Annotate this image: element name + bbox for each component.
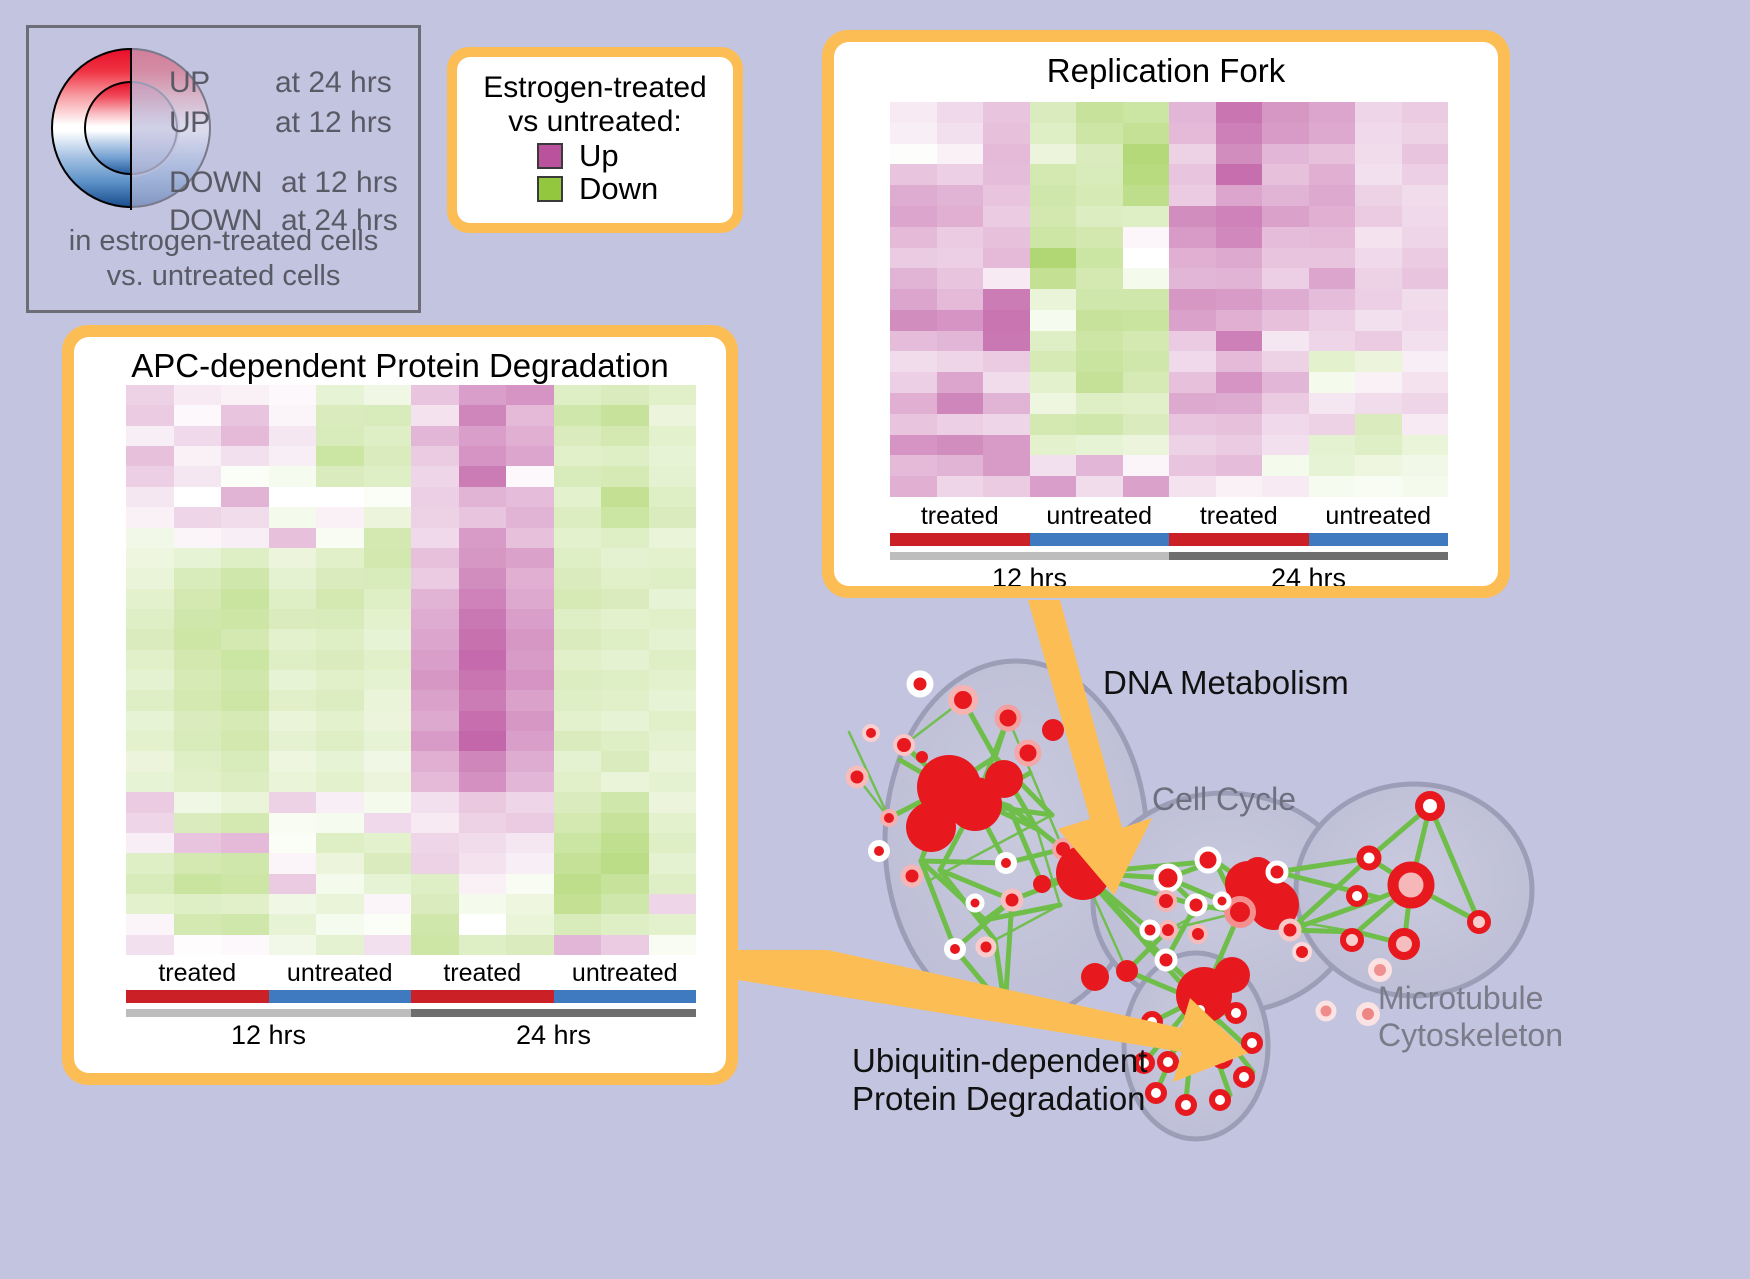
heatmap-cell xyxy=(269,833,317,853)
heatmap-cell xyxy=(1030,248,1077,269)
heatmap-cell xyxy=(459,894,507,914)
network-node xyxy=(1176,967,1232,1023)
heatmap-cell xyxy=(1355,310,1402,331)
heatmap-cell xyxy=(316,426,364,446)
heatmap-cell xyxy=(554,426,602,446)
heatmap-cell xyxy=(890,310,937,331)
heatmap-cell xyxy=(1355,144,1402,165)
heatmap-cell xyxy=(221,385,269,405)
network-node xyxy=(848,768,866,786)
heatmap-cell xyxy=(269,385,317,405)
heatmap-cell xyxy=(554,568,602,588)
heatmap-cell xyxy=(221,426,269,446)
heatmap-cell xyxy=(890,289,937,310)
heatmap-cell xyxy=(554,874,602,894)
heatmap-cell xyxy=(126,751,174,771)
heatmap-cell xyxy=(269,751,317,771)
heatmap-cell xyxy=(174,507,222,527)
heatmap-cell xyxy=(459,914,507,934)
heatmap-cell xyxy=(890,164,937,185)
heatmap-cell xyxy=(506,507,554,527)
heatmap-cell xyxy=(1309,372,1356,393)
network-node xyxy=(1187,896,1205,914)
heatmap-cell xyxy=(364,792,412,812)
heatmap-cell xyxy=(890,351,937,372)
heatmap-cell xyxy=(1309,206,1356,227)
heatmap-cell xyxy=(506,853,554,873)
heatmap-cell xyxy=(459,670,507,690)
heatmap-cell xyxy=(601,772,649,792)
heatmap-cell xyxy=(1309,310,1356,331)
heatmap-cell xyxy=(411,405,459,425)
network-node xyxy=(1242,857,1274,889)
heatmap-cell xyxy=(1076,435,1123,456)
heatmap-cell xyxy=(221,731,269,751)
heatmap-cell xyxy=(506,751,554,771)
heatmap-cell xyxy=(126,833,174,853)
heatmap-cell xyxy=(1123,476,1170,497)
network-node xyxy=(917,755,981,819)
heatmap-cell xyxy=(364,914,412,934)
heatmap-cell xyxy=(126,507,174,527)
heatmap-cell xyxy=(1309,435,1356,456)
heatmap-cell xyxy=(411,751,459,771)
heatmap-cell xyxy=(937,123,984,144)
group-bar-treated-12 xyxy=(890,533,1030,546)
heatmap-cell xyxy=(459,589,507,609)
heatmap-cell xyxy=(1216,268,1263,289)
heatmap-cell xyxy=(506,487,554,507)
heatmap-cell xyxy=(1355,351,1402,372)
wheel-caption: in estrogen-treated cells vs. untreated … xyxy=(29,224,418,295)
heatmap-cell xyxy=(1169,372,1216,393)
network-node xyxy=(1033,875,1051,893)
heatmap-cell xyxy=(1402,351,1449,372)
heatmap-cell xyxy=(1262,455,1309,476)
network-node xyxy=(1268,863,1286,881)
heatmap-cell xyxy=(1262,289,1309,310)
heatmap-cell xyxy=(1216,289,1263,310)
heatmap-cell xyxy=(174,650,222,670)
heatmap-cell xyxy=(1355,289,1402,310)
heatmap-cell xyxy=(411,813,459,833)
cluster-ellipse-dna-metabolism xyxy=(885,661,1147,1021)
heatmap-cell xyxy=(1402,435,1449,456)
network-node xyxy=(1148,1085,1164,1101)
heatmap-cell xyxy=(890,455,937,476)
time-bar-12hrs xyxy=(126,1009,411,1017)
heatmap-cell xyxy=(1309,102,1356,123)
heatmap-cell xyxy=(601,874,649,894)
heatmap-cell xyxy=(1355,435,1402,456)
heatmap-cell xyxy=(983,227,1030,248)
heatmap-cell xyxy=(506,385,554,405)
heatmap-cell xyxy=(411,874,459,894)
heatmap-cell xyxy=(459,487,507,507)
heatmap-cell xyxy=(1169,123,1216,144)
heatmap-cell xyxy=(1076,414,1123,435)
heatmap-cell xyxy=(1216,331,1263,352)
heatmap-cell xyxy=(1262,414,1309,435)
heatmap-cell xyxy=(649,772,697,792)
heatmap-cell xyxy=(221,507,269,527)
heatmap-cell xyxy=(983,393,1030,414)
heatmap-cell xyxy=(174,894,222,914)
network-node xyxy=(1215,894,1229,908)
heatmap-cell xyxy=(1262,476,1309,497)
heatmap-cell xyxy=(126,792,174,812)
heatmap-cell xyxy=(601,935,649,955)
heatmap-cell xyxy=(1123,435,1170,456)
heatmap-cell xyxy=(506,609,554,629)
heatmap-cell xyxy=(601,446,649,466)
heatmap-cell xyxy=(1402,164,1449,185)
heatmap-cell xyxy=(126,772,174,792)
heatmap-cell xyxy=(364,772,412,792)
heatmap-cell xyxy=(269,935,317,955)
heatmap-cell xyxy=(601,589,649,609)
heatmap-cell xyxy=(601,528,649,548)
heatmap-cell xyxy=(221,751,269,771)
heatmap-cell xyxy=(983,435,1030,456)
heatmap-cell xyxy=(1262,435,1309,456)
heatmap-cell xyxy=(937,102,984,123)
heatmap-cell xyxy=(1030,455,1077,476)
network-node xyxy=(1236,1069,1252,1085)
heatmap-cell xyxy=(364,751,412,771)
group-bar-untreated-12 xyxy=(269,990,412,1003)
heatmap-cell xyxy=(554,894,602,914)
heatmap-cell xyxy=(364,589,412,609)
heatmap-cell xyxy=(126,670,174,690)
heatmap-cell xyxy=(1030,268,1077,289)
down-colour-swatch xyxy=(537,176,563,202)
heatmap-cell xyxy=(1216,164,1263,185)
axis-group-label: treated xyxy=(126,959,269,988)
heatmap-cell xyxy=(506,772,554,792)
heatmap-cell xyxy=(174,466,222,486)
heatmap-cell xyxy=(890,435,937,456)
heatmap-cell xyxy=(1402,206,1449,227)
heatmap-cell xyxy=(126,731,174,751)
heatmap-cell xyxy=(411,385,459,405)
heatmap-cell xyxy=(937,227,984,248)
heatmap-cell xyxy=(1030,414,1077,435)
heatmap-cell xyxy=(174,853,222,873)
network-node xyxy=(1214,1050,1230,1066)
group-bar-untreated-24 xyxy=(1309,533,1449,546)
heatmap-cell xyxy=(1030,102,1077,123)
heatmap-cell xyxy=(1262,310,1309,331)
heatmap-cell xyxy=(601,385,649,405)
heatmap-cell xyxy=(221,894,269,914)
heatmap-cell xyxy=(459,629,507,649)
heatmap-cell xyxy=(649,731,697,751)
network-node xyxy=(985,760,1023,798)
heatmap-cell xyxy=(983,102,1030,123)
heatmap-cell xyxy=(411,446,459,466)
heatmap-cell xyxy=(1402,393,1449,414)
heatmap-cell xyxy=(601,751,649,771)
heatmap-cell xyxy=(1169,144,1216,165)
heatmap-cell xyxy=(364,853,412,873)
heatmap-cell xyxy=(316,507,364,527)
heatmap-cell xyxy=(983,144,1030,165)
heatmap-cell xyxy=(316,528,364,548)
heatmap-cell xyxy=(411,711,459,731)
axis-time-label-24: 24 hrs xyxy=(411,1020,696,1051)
heatmap-cell xyxy=(1309,455,1356,476)
heatmap-cell xyxy=(459,935,507,955)
group-bar-treated-24 xyxy=(1169,533,1309,546)
network-node xyxy=(1192,1002,1208,1018)
heatmap-cell xyxy=(1123,123,1170,144)
heatmap-cell xyxy=(554,528,602,548)
heatmap-cell xyxy=(506,426,554,446)
heatmap-cell xyxy=(1402,372,1449,393)
network-node xyxy=(906,802,956,852)
heatmap-cell xyxy=(126,629,174,649)
axis-group-label: treated xyxy=(411,959,554,988)
heatmap-cell xyxy=(937,144,984,165)
heatmap-cell xyxy=(316,914,364,934)
axis-group-label: untreated xyxy=(1309,502,1449,531)
network-node xyxy=(1244,1035,1260,1051)
heatmap-cell xyxy=(1355,102,1402,123)
network-node xyxy=(1157,951,1175,969)
heatmap-cell xyxy=(890,414,937,435)
updown-legend-title: Estrogen-treated vs untreated: xyxy=(457,71,733,138)
heatmap-cell xyxy=(983,185,1030,206)
heatmap-cell xyxy=(1123,351,1170,372)
heatmap-cell xyxy=(1355,393,1402,414)
heatmap-cell xyxy=(364,446,412,466)
heatmap-cell xyxy=(459,507,507,527)
heatmap-cell xyxy=(554,690,602,710)
network-node xyxy=(1360,849,1378,867)
heatmap-cell xyxy=(126,528,174,548)
heatmap-cell xyxy=(126,935,174,955)
heatmap-cell xyxy=(459,792,507,812)
network-node xyxy=(1190,926,1206,942)
heatmap-cell xyxy=(364,711,412,731)
heatmap-cell xyxy=(1076,123,1123,144)
axis-time-labels-apc: 12 hrs 24 hrs xyxy=(126,1020,696,1051)
axis-group-names-apc: treated untreated treated untreated xyxy=(126,959,696,988)
network-node xyxy=(1249,880,1299,930)
network-node xyxy=(903,867,921,885)
network-node xyxy=(916,751,928,763)
heatmap-cell xyxy=(1262,248,1309,269)
heatmap-cell xyxy=(269,507,317,527)
heatmap-cell xyxy=(1309,123,1356,144)
panel-title-apc-degradation: APC-dependent Protein Degradation xyxy=(74,347,726,385)
heatmap-cell xyxy=(1262,102,1309,123)
heatmap-cell xyxy=(1076,268,1123,289)
heatmap-cell xyxy=(316,853,364,873)
network-node xyxy=(968,896,982,910)
heatmap-cell xyxy=(1076,331,1123,352)
heatmap-cell xyxy=(601,629,649,649)
arrow-replication-to-dna xyxy=(1028,600,1152,895)
cluster-label-microtubule-cytoskeleton: Microtubule Cytoskeleton xyxy=(1378,980,1563,1054)
network-node xyxy=(1392,932,1416,956)
heatmap-cell xyxy=(269,548,317,568)
axis-replication-fork: treated untreated treated untreated 12 h xyxy=(890,502,1448,586)
heatmap-cell xyxy=(1169,476,1216,497)
panel-replication-fork: Replication Fork treated untreated treat… xyxy=(822,30,1510,598)
network-node xyxy=(1294,944,1310,960)
network-node xyxy=(998,855,1014,871)
heatmap-cell xyxy=(221,935,269,955)
heatmap-cell xyxy=(506,792,554,812)
heatmap-cell xyxy=(983,455,1030,476)
heatmap-cell xyxy=(411,650,459,670)
heatmap-cell xyxy=(1169,455,1216,476)
heatmap-cell xyxy=(601,731,649,751)
heatmap-cell xyxy=(411,670,459,690)
heatmap-cell xyxy=(649,833,697,853)
time-bar-12hrs xyxy=(890,552,1169,560)
heatmap-cell xyxy=(269,894,317,914)
heatmap-cell xyxy=(554,629,602,649)
axis-group-bars-apc xyxy=(126,990,696,1003)
heatmap-cell xyxy=(316,670,364,690)
heatmap-cell xyxy=(1216,351,1263,372)
heatmap-cell xyxy=(1355,476,1402,497)
heatmap-cell xyxy=(221,670,269,690)
axis-group-label: treated xyxy=(1169,502,1309,531)
heatmap-cell xyxy=(937,289,984,310)
updown-legend-card: Estrogen-treated vs untreated: Up Down xyxy=(447,47,743,233)
heatmap-cell xyxy=(1355,268,1402,289)
heatmap-cell xyxy=(411,894,459,914)
network-node xyxy=(1042,719,1064,741)
heatmap-cell xyxy=(1309,289,1356,310)
heatmap-cell xyxy=(649,507,697,527)
heatmap-cell xyxy=(174,609,222,629)
heatmap-cell xyxy=(983,310,1030,331)
heatmap-cell xyxy=(983,123,1030,144)
heatmap-cell xyxy=(649,405,697,425)
heatmap-cell xyxy=(649,935,697,955)
heatmap-cell xyxy=(1123,164,1170,185)
heatmap-cell xyxy=(174,568,222,588)
heatmap-cell xyxy=(126,650,174,670)
wheel-time-up-24: at 24 hrs xyxy=(275,66,392,100)
heatmap-cell xyxy=(1123,185,1170,206)
heatmap-cell xyxy=(126,548,174,568)
wheel-label-down-12: DOWN xyxy=(169,166,262,200)
heatmap-cell xyxy=(1402,123,1449,144)
heatmap-cell xyxy=(554,385,602,405)
heatmap-cell xyxy=(269,487,317,507)
heatmap-cell xyxy=(1123,372,1170,393)
network-node xyxy=(895,736,913,754)
heatmap-cell xyxy=(1402,185,1449,206)
network-node xyxy=(994,998,1016,1020)
heatmap-cell xyxy=(459,568,507,588)
heatmap-cell xyxy=(459,833,507,853)
heatmap-cell xyxy=(1169,351,1216,372)
heatmap-cell xyxy=(1216,144,1263,165)
heatmap-cell xyxy=(601,609,649,629)
heatmap-cell xyxy=(1309,248,1356,269)
heatmap-cell xyxy=(1309,164,1356,185)
heatmap-cell xyxy=(649,874,697,894)
heatmap-cell xyxy=(506,548,554,568)
heatmap-cell xyxy=(316,629,364,649)
heatmap-cell xyxy=(649,813,697,833)
axis-time-label-12: 12 hrs xyxy=(126,1020,411,1051)
heatmap-cell xyxy=(601,813,649,833)
heatmap-cell xyxy=(459,690,507,710)
heatmap-cell xyxy=(411,507,459,527)
heatmap-cell xyxy=(649,487,697,507)
heatmap-cell xyxy=(364,935,412,955)
heatmap-cell xyxy=(506,690,554,710)
heatmap-cell xyxy=(316,731,364,751)
heatmap-cell xyxy=(1262,331,1309,352)
heatmap-cell xyxy=(983,372,1030,393)
heatmap-cell xyxy=(601,507,649,527)
wheel-label-up-12: UP xyxy=(169,106,210,140)
heatmap-cell xyxy=(890,268,937,289)
heatmap-cell xyxy=(1216,227,1263,248)
heatmap-cell xyxy=(601,426,649,446)
heatmap-cell xyxy=(1262,393,1309,414)
heatmap-cell xyxy=(554,935,602,955)
heatmap-cell xyxy=(1076,144,1123,165)
heatmap-cell xyxy=(649,568,697,588)
heatmap-cell xyxy=(601,405,649,425)
network-node xyxy=(1160,922,1176,938)
heatmap-cell xyxy=(890,331,937,352)
time-bar-24hrs xyxy=(411,1009,696,1017)
heatmap-cell xyxy=(1076,393,1123,414)
network-node xyxy=(1359,1005,1377,1023)
heatmap-cell xyxy=(983,289,1030,310)
heatmap-cell xyxy=(937,476,984,497)
heatmap-cell xyxy=(459,405,507,425)
heatmap-cell xyxy=(649,426,697,446)
heatmap-cell xyxy=(174,914,222,934)
heatmap-cell xyxy=(364,507,412,527)
heatmap-cell xyxy=(1030,185,1077,206)
heatmap-cell xyxy=(506,894,554,914)
heatmap-cell xyxy=(1355,455,1402,476)
heatmap-cell xyxy=(937,206,984,227)
heatmap-cell xyxy=(890,476,937,497)
heatmap-cell xyxy=(983,351,1030,372)
heatmap-cell xyxy=(890,248,937,269)
network-node xyxy=(1419,795,1441,817)
heatmap-cell xyxy=(364,528,412,548)
heatmap-cell xyxy=(1169,227,1216,248)
heatmap-cell xyxy=(890,206,937,227)
heatmap-cell xyxy=(1309,476,1356,497)
heatmap-cell xyxy=(269,711,317,731)
heatmap-cell xyxy=(411,772,459,792)
network-node xyxy=(997,707,1019,729)
heatmap-cell xyxy=(506,833,554,853)
heatmap-cell xyxy=(269,690,317,710)
heatmap-cell xyxy=(316,690,364,710)
heatmap-cell xyxy=(174,446,222,466)
network-node xyxy=(951,688,975,712)
heatmap-cell xyxy=(459,426,507,446)
heatmap-cell xyxy=(506,629,554,649)
